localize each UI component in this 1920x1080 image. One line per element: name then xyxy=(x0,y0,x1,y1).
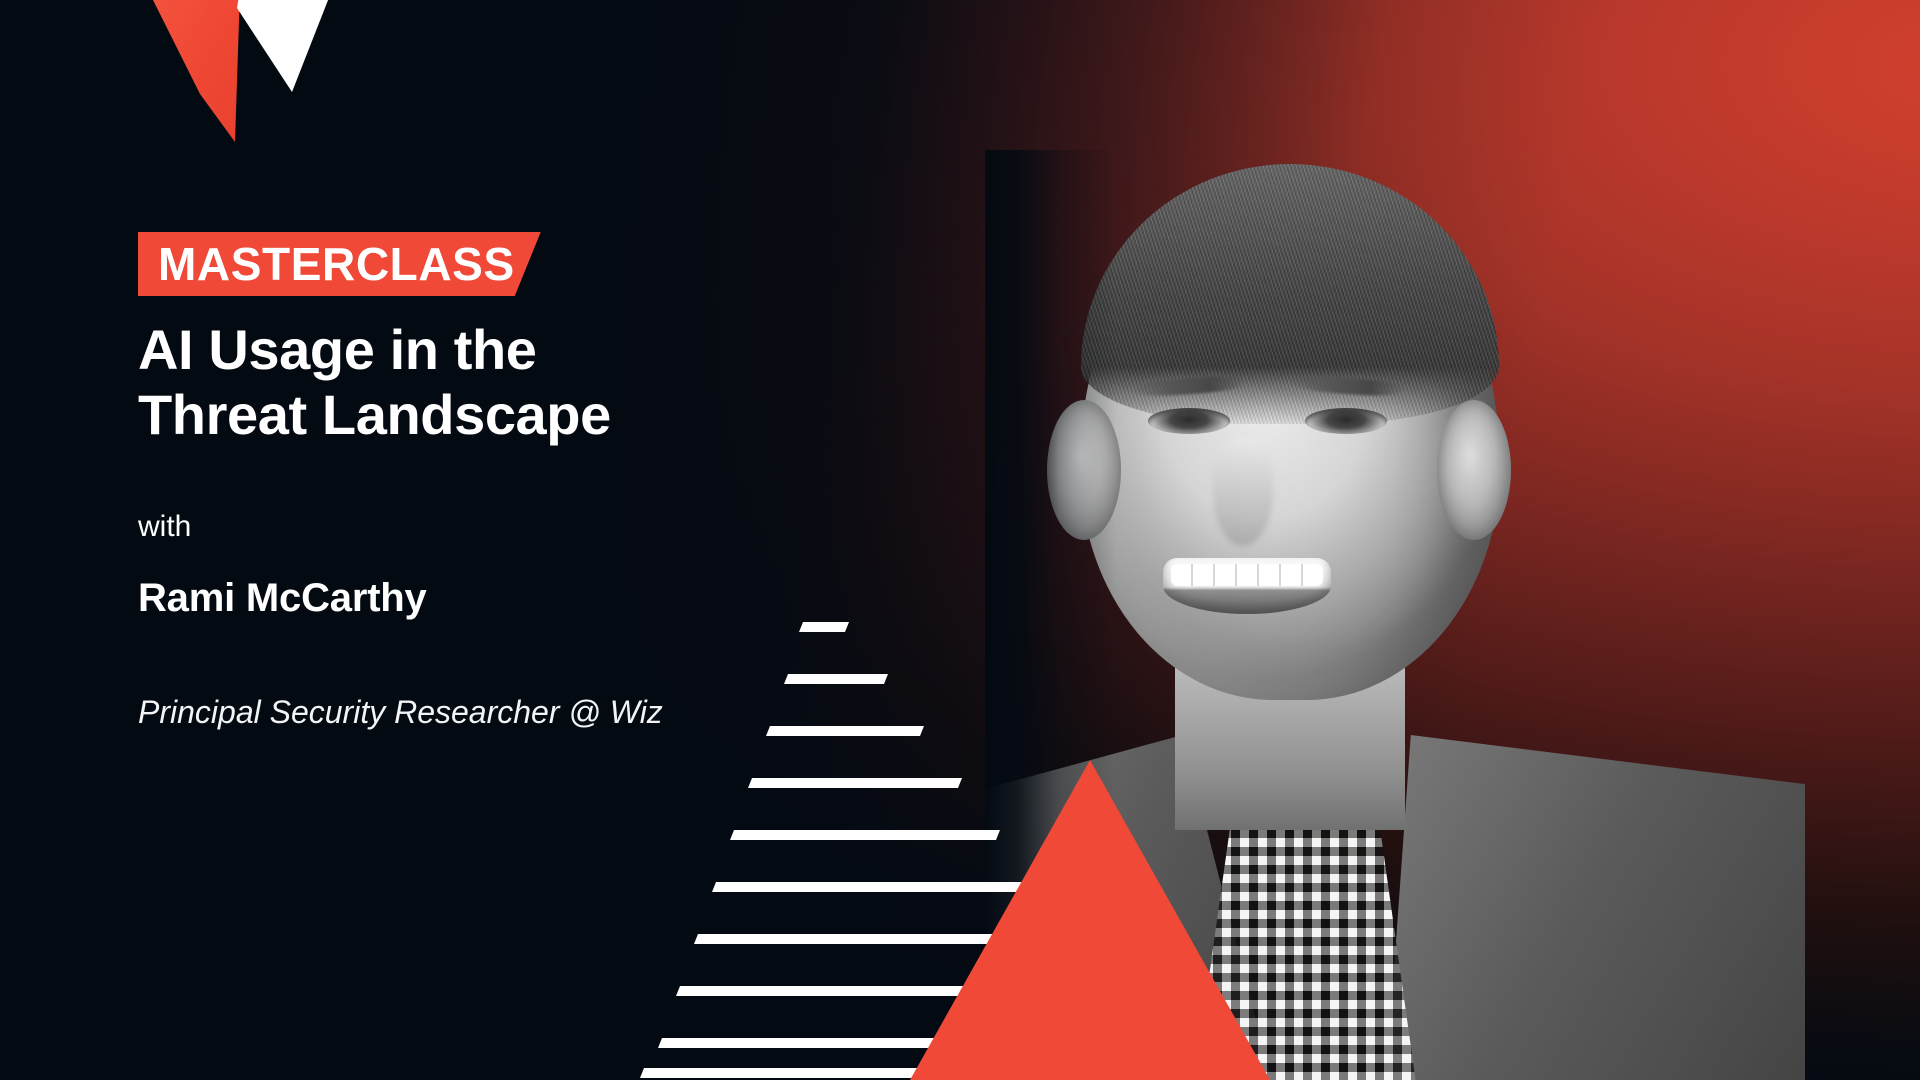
speaker-role: Principal Security Researcher @ Wiz xyxy=(138,696,663,728)
page-title: AI Usage in the Threat Landscape xyxy=(138,318,838,448)
speaker-name: Rami McCarthy xyxy=(138,578,427,618)
wiz-logo-icon xyxy=(140,0,360,148)
page-title-line-1: AI Usage in the xyxy=(138,318,838,383)
masterclass-badge: MASTERCLASS xyxy=(138,232,541,296)
masterclass-badge-label: MASTERCLASS xyxy=(158,241,515,287)
with-label: with xyxy=(138,512,191,542)
stripe-triangle-decoration xyxy=(600,600,1360,1080)
red-triangle xyxy=(820,760,1360,1080)
page-title-line-2: Threat Landscape xyxy=(138,383,838,448)
title-card: MASTERCLASS AI Usage in the Threat Lands… xyxy=(0,0,1920,1080)
